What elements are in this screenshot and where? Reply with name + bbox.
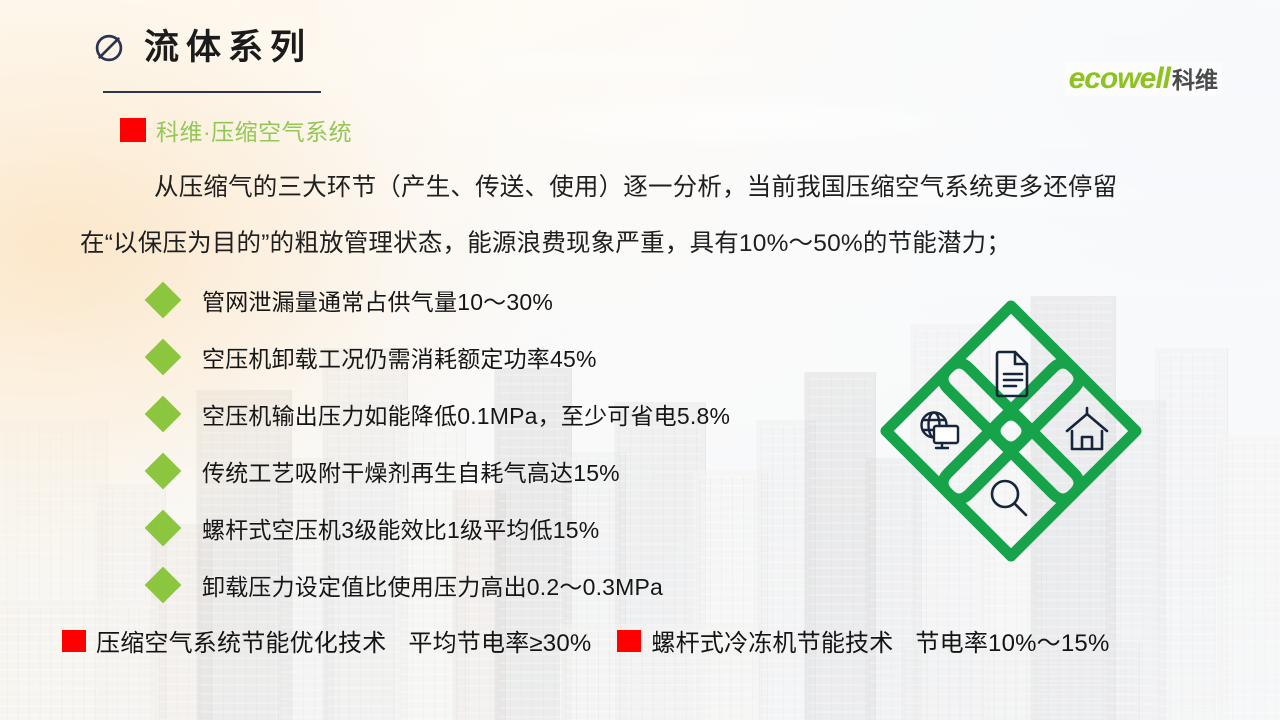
slide-canvas: 流体系列 科维·压缩空气系统 从压缩气的三大环节（产生、传送、使用）逐一分析，当…	[0, 0, 1280, 720]
footer-item-value: 平均节电率≥30%	[408, 623, 591, 658]
list-item: 卸载压力设定值比使用压力高出0.2～0.3MPa	[150, 556, 970, 613]
list-item-label: 螺杆式空压机3级能效比1级平均低15%	[202, 511, 599, 545]
globe-monitor-icon	[922, 413, 959, 449]
green-diamond-bullet-icon	[145, 338, 182, 375]
slide-content: 流体系列 科维·压缩空气系统 从压缩气的三大环节（产生、传送、使用）逐一分析，当…	[0, 0, 1280, 720]
page-title: 流体系列	[144, 30, 312, 65]
diamond-outline-top	[943, 306, 1079, 447]
four-diamond-flower-graphic	[878, 298, 1144, 564]
brand-logo-cn: 科维	[1172, 69, 1218, 92]
list-item: 传统工艺吸附干燥剂再生自耗气高达15%	[150, 442, 970, 499]
section-heading-label: 科维·压缩空气系统	[156, 113, 352, 147]
footer-item: 螺杆式冷冻机节能技术 节电率10%～15%	[617, 623, 1109, 658]
document-icon	[997, 352, 1027, 396]
brand-logo-en: ecowell	[1069, 64, 1170, 94]
list-item-label: 卸载压力设定值比使用压力高出0.2～0.3MPa	[202, 568, 663, 602]
list-item: 管网泄漏量通常占供气量10～30%	[150, 271, 970, 328]
footer-item-label: 螺杆式冷冻机节能技术	[651, 623, 893, 658]
footer-item-value: 节电率10%～15%	[915, 623, 1109, 658]
title-underline-rule	[103, 91, 321, 93]
slide-title-row: 流体系列	[92, 30, 312, 65]
diamond-outline-right	[995, 363, 1136, 499]
footer-item: 压缩空气系统节能优化技术 平均节电率≥30%	[62, 623, 591, 658]
green-diamond-bullet-icon	[145, 452, 182, 489]
list-item-label: 空压机卸载工况仍需消耗额定功率45%	[202, 340, 597, 374]
section-heading: 科维·压缩空气系统	[120, 113, 352, 147]
list-item-label: 传统工艺吸附干燥剂再生自耗气高达15%	[202, 454, 620, 488]
list-item: 空压机卸载工况仍需消耗额定功率45%	[150, 328, 970, 385]
list-item: 螺杆式空压机3级能效比1级平均低15%	[150, 499, 970, 556]
list-item-label: 空压机输出压力如能降低0.1MPa，至少可省电5.8%	[202, 397, 730, 431]
red-square-bullet-icon	[120, 118, 146, 142]
magnifier-icon	[992, 481, 1026, 515]
red-square-bullet-icon	[617, 630, 641, 652]
list-item-label: 管网泄漏量通常占供气量10～30%	[202, 283, 553, 317]
list-item: 空压机输出压力如能降低0.1MPa，至少可省电5.8%	[150, 385, 970, 442]
house-icon	[1067, 408, 1107, 449]
diamond-outline-bottom	[943, 415, 1079, 556]
circle-slash-icon	[92, 31, 126, 65]
footer-item-label: 压缩空气系统节能优化技术	[96, 623, 386, 658]
green-diamond-bullet-icon	[145, 281, 182, 318]
body-paragraph: 从压缩气的三大环节（产生、传送、使用）逐一分析，当前我国压缩空气系统更多还停留 …	[80, 160, 1220, 272]
red-square-bullet-icon	[62, 630, 86, 652]
green-diamond-bullet-icon	[145, 395, 182, 432]
paragraph-line-2: 在“以保压为目的”的粗放管理状态，能源浪费现象严重，具有10%～50%的节能潜力…	[80, 216, 1220, 272]
footer-highlights: 压缩空气系统节能优化技术 平均节电率≥30% 螺杆式冷冻机节能技术 节电率10%…	[62, 623, 1262, 658]
green-diamond-bullet-icon	[145, 566, 182, 603]
green-diamond-bullet-icon	[145, 509, 182, 546]
brand-logo: ecowell 科维	[1065, 62, 1222, 96]
paragraph-line-1: 从压缩气的三大环节（产生、传送、使用）逐一分析，当前我国压缩空气系统更多还停留	[154, 174, 1117, 201]
bullet-list: 管网泄漏量通常占供气量10～30% 空压机卸载工况仍需消耗额定功率45% 空压机…	[150, 271, 970, 613]
